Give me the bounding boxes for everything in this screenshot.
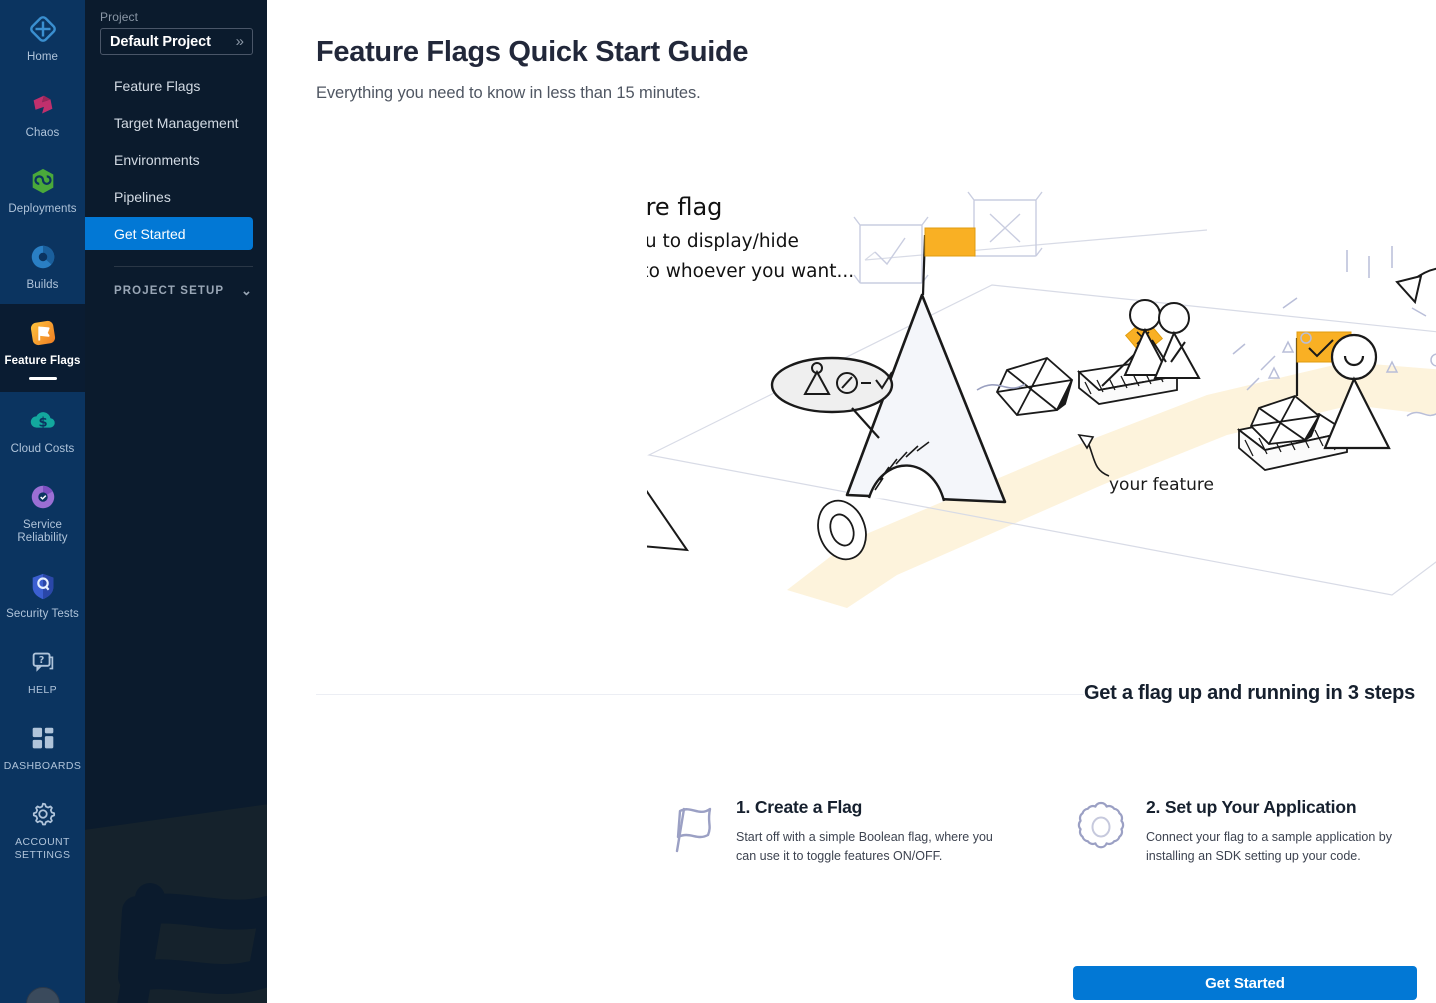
app-root: Home Chaos Deployments Builds (0, 0, 1436, 1003)
rail-item-dashboards[interactable]: DASHBOARDS (0, 709, 85, 785)
illustration-caption-line-3: features to whoever you want... (647, 261, 854, 282)
nav-divider (114, 266, 253, 267)
step-text-block: 1. Create a Flag Start off with a simple… (736, 797, 993, 866)
nav-section-project-setup[interactable]: PROJECT SETUP ⌄ (85, 283, 267, 299)
home-diamond-icon (28, 14, 58, 44)
rail-label: Chaos (1, 127, 84, 140)
rail-label: DASHBOARDS (1, 760, 84, 773)
illustration-caption-line-2: allows you to display/hide (647, 231, 799, 252)
avatar[interactable] (26, 987, 60, 1003)
annotation-your-feature: your feature (1109, 475, 1214, 495)
rail-item-account-settings[interactable]: ACCOUNT SETTINGS (0, 785, 85, 874)
dashboards-icon (28, 723, 58, 753)
gear-outline-icon (1073, 799, 1129, 855)
hero-illustration: your feature (647, 190, 1436, 620)
step-description: Start off with a simple Boolean flag, wh… (736, 828, 993, 866)
rail-label: Builds (1, 279, 84, 292)
step-title: 2. Set up Your Application (1146, 797, 1403, 818)
svg-text:$: $ (38, 415, 47, 430)
chevron-double-right-icon: » (236, 34, 244, 49)
rail-item-deployments[interactable]: Deployments (0, 152, 85, 228)
nav-item-environments[interactable]: Environments (85, 143, 253, 176)
active-indicator (29, 377, 57, 380)
rail-label: ACCOUNT SETTINGS (1, 836, 84, 862)
chaos-icon (28, 90, 58, 120)
rail-item-chaos[interactable]: Chaos (0, 76, 85, 152)
svg-text:?: ? (38, 654, 43, 665)
service-reliability-icon (28, 482, 58, 512)
step-card-create-a-flag: 1. Create a Flag Start off with a simple… (663, 797, 993, 866)
rail-item-help[interactable]: ? HELP (0, 633, 85, 709)
project-nav: Project Default Project » Feature Flags … (85, 0, 267, 1003)
project-label: Project (85, 10, 267, 28)
nav-item-get-started[interactable]: Get Started (85, 217, 253, 250)
rail-label: Home (1, 51, 84, 64)
step-card-set-up-your-application: 2. Set up Your Application Connect your … (1073, 797, 1403, 866)
main-content: Feature Flags Quick Start Guide Everythi… (267, 0, 1436, 1003)
rail-label: Deployments (1, 203, 84, 216)
cloud-costs-icon: $ (28, 406, 58, 436)
section-divider (316, 694, 1084, 695)
rail-item-home[interactable]: Home (0, 0, 85, 76)
chevron-down-icon: ⌄ (241, 283, 253, 299)
rail-label: Cloud Costs (1, 443, 84, 456)
step-text-block: 2. Set up Your Application Connect your … (1146, 797, 1403, 866)
rail-label: Feature Flags (1, 355, 84, 368)
deployments-icon (28, 166, 58, 196)
nav-item-target-management[interactable]: Target Management (85, 106, 253, 139)
feature-flags-watermark-icon (85, 773, 267, 1003)
illustration-caption-line-1: A feature flag (647, 193, 722, 221)
rail-label: Security Tests (1, 608, 84, 621)
step-description: Connect your flag to a sample applicatio… (1146, 828, 1403, 866)
rail-item-feature-flags[interactable]: Feature Flags (0, 304, 85, 392)
steps-heading: Get a flag up and running in 3 steps (1084, 682, 1415, 705)
gear-icon (28, 799, 58, 829)
help-icon: ? (28, 647, 58, 677)
rail-item-security-tests[interactable]: Security Tests (0, 557, 85, 633)
nav-section-label: PROJECT SETUP (114, 285, 224, 297)
step-title: 1. Create a Flag (736, 797, 993, 818)
rail-label: HELP (1, 684, 84, 697)
rail-label: Service Reliability (1, 519, 84, 545)
builds-icon (28, 242, 58, 272)
project-selector[interactable]: Default Project » (100, 28, 253, 55)
primary-module-rail: Home Chaos Deployments Builds (0, 0, 85, 1003)
project-name: Default Project (110, 34, 211, 50)
flag-outline-icon (663, 799, 719, 855)
page-subtitle: Everything you need to know in less than… (316, 84, 701, 103)
rail-item-service-reliability[interactable]: Service Reliability (0, 468, 85, 557)
nav-item-feature-flags[interactable]: Feature Flags (85, 69, 253, 102)
page-title: Feature Flags Quick Start Guide (316, 36, 748, 69)
rail-item-builds[interactable]: Builds (0, 228, 85, 304)
nav-item-pipelines[interactable]: Pipelines (85, 180, 253, 213)
rail-item-cloud-costs[interactable]: $ Cloud Costs (0, 392, 85, 468)
security-tests-icon (28, 571, 58, 601)
get-started-button[interactable]: Get Started (1073, 966, 1417, 1000)
feature-flags-icon (28, 318, 58, 348)
